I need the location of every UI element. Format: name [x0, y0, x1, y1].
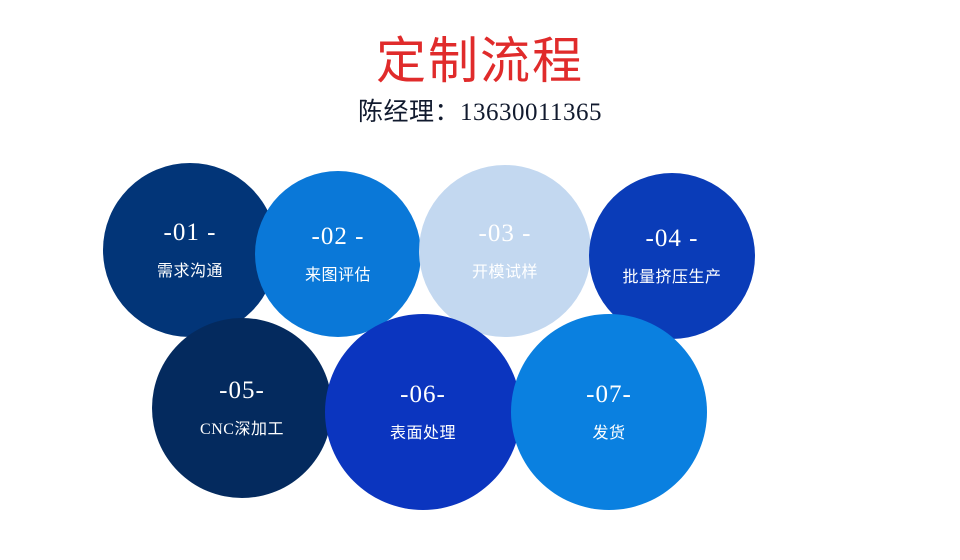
slide-canvas: 定制流程 陈经理：13630011365 -01 -需求沟通-02 -来图评估-… [0, 0, 960, 560]
process-flow-diagram: -01 -需求沟通-02 -来图评估-03 -开模试样-04 -批量挤压生产-0… [0, 0, 960, 560]
process-step-number: -01 - [164, 218, 217, 248]
process-step-label: 开模试样 [472, 262, 538, 284]
process-step-number: -03 - [479, 219, 532, 249]
process-step-number: -02 - [312, 222, 365, 252]
process-step-circle-01[interactable]: -01 -需求沟通 [103, 163, 277, 337]
process-step-number: -07- [586, 380, 632, 410]
process-step-number: -06- [400, 380, 446, 410]
process-step-circle-05[interactable]: -05-CNC深加工 [152, 318, 332, 498]
process-step-number: -05- [219, 376, 265, 406]
process-step-circle-02[interactable]: -02 -来图评估 [255, 171, 421, 337]
process-step-label: CNC深加工 [200, 419, 284, 441]
process-step-label: 来图评估 [305, 265, 371, 287]
process-step-circle-07[interactable]: -07-发货 [511, 314, 707, 510]
process-step-number: -04 - [646, 224, 699, 254]
process-step-label: 批量挤压生产 [622, 267, 721, 289]
process-step-label: 发货 [592, 423, 625, 445]
process-step-circle-06[interactable]: -06-表面处理 [325, 314, 521, 510]
process-step-label: 需求沟通 [157, 261, 223, 283]
process-step-label: 表面处理 [390, 423, 456, 445]
process-step-circle-03[interactable]: -03 -开模试样 [419, 165, 591, 337]
